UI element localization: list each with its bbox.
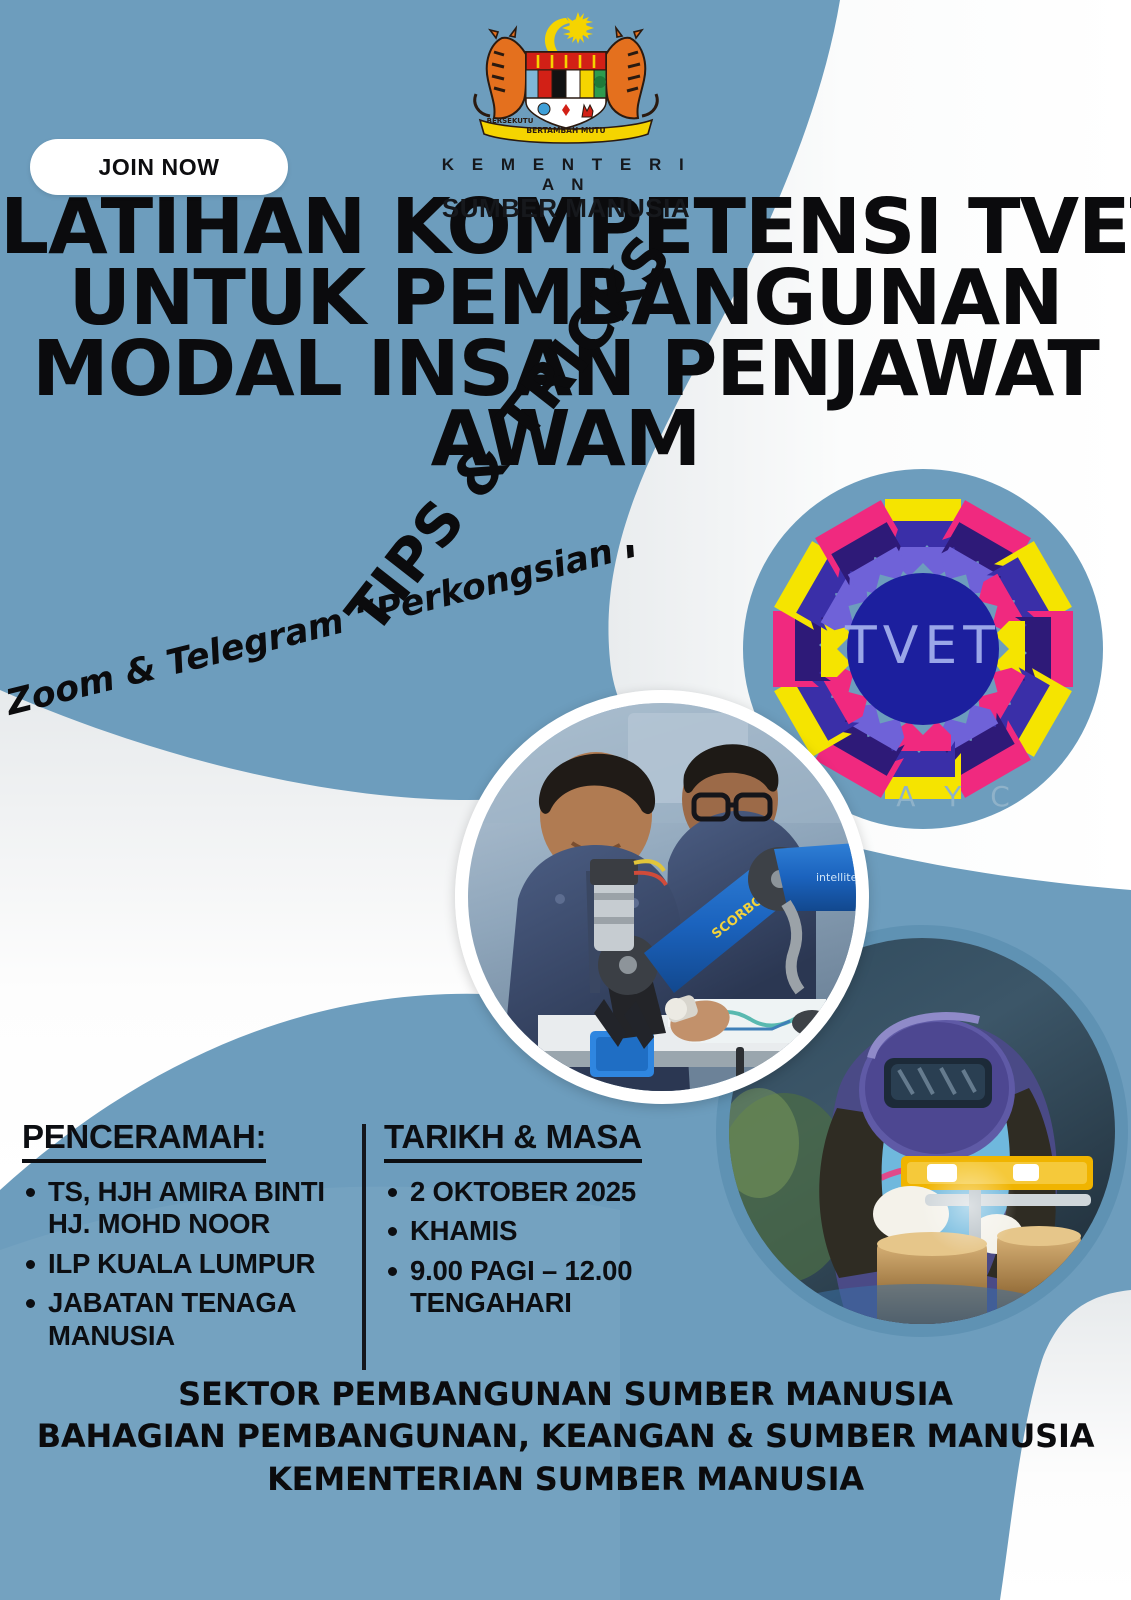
schedule-list: 2 OKTOBER 2025 KHAMIS 9.00 PAGI – 12.00 …	[384, 1176, 714, 1320]
svg-text:BERTAMBAH MUTU: BERTAMBAH MUTU	[526, 126, 605, 135]
join-now-label: JOIN NOW	[98, 154, 219, 181]
list-item: TS, HJH AMIRA BINTI HJ. MOHD NOOR	[22, 1176, 346, 1241]
join-now-badge[interactable]: JOIN NOW	[30, 139, 288, 195]
svg-text:intellitek: intellitek	[816, 871, 856, 884]
footer-line-3: KEMENTERIAN SUMBER MANUSIA	[0, 1459, 1131, 1501]
robotics-training-photo: SCORBOT-ER 4u intellitek	[455, 690, 869, 1104]
list-item: ILP KUALA LUMPUR	[22, 1248, 346, 1280]
curved-subtitle-path-text: Zoom & Telegram “Perkongsian Ilmu 2025”	[0, 545, 642, 724]
column-divider	[362, 1124, 366, 1370]
tiger-left-icon	[475, 28, 528, 118]
malaysia-coat-of-arms-icon: BERTAMBAH MUTU BERSEKUTU	[432, 8, 700, 148]
list-item: 2 OKTOBER 2025	[384, 1176, 714, 1208]
ministry-logo-block: BERTAMBAH MUTU BERSEKUTU K E M E N T E R…	[432, 8, 700, 224]
svg-text:BERSEKUTU: BERSEKUTU	[487, 117, 534, 125]
footer-line-1: SEKTOR PEMBANGUNAN SUMBER MANUSIA	[0, 1374, 1131, 1416]
robotics-photo-art: SCORBOT-ER 4u intellitek	[468, 703, 856, 1091]
footer-line-2: BAHAGIAN PEMBANGUNAN, KEANGAN & SUMBER M…	[0, 1416, 1131, 1458]
schedule-column: TARIKH & MASA 2 OKTOBER 2025 KHAMIS 9.00…	[384, 1118, 714, 1370]
event-details: PENCERAMAH: TS, HJH AMIRA BINTI HJ. MOHD…	[22, 1118, 722, 1370]
ministry-line-1: K E M E N T E R I A N	[432, 155, 700, 195]
ministry-line-2: SUMBER MANUSIA	[432, 193, 700, 224]
list-item: KHAMIS	[384, 1215, 714, 1247]
curved-subtitle-text: Zoom & Telegram “Perkongsian Ilmu 2025”	[0, 545, 642, 724]
speaker-heading: PENCERAMAH:	[22, 1118, 266, 1163]
poster-canvas: JOIN NOW	[0, 0, 1131, 1600]
list-item: 9.00 PAGI – 12.00 TENGAHARI	[384, 1255, 714, 1320]
tvet-sub-label: A Y C	[896, 780, 1020, 813]
speaker-list: TS, HJH AMIRA BINTI HJ. MOHD NOOR ILP KU…	[22, 1176, 346, 1352]
poster-footer: SEKTOR PEMBANGUNAN SUMBER MANUSIA BAHAGI…	[0, 1374, 1131, 1501]
tvet-center-label: TVET	[844, 616, 1001, 676]
tiger-right-icon	[604, 28, 657, 118]
schedule-heading: TARIKH & MASA	[384, 1118, 642, 1163]
list-item: JABATAN TENAGA MANUSIA	[22, 1287, 346, 1352]
speaker-column: PENCERAMAH: TS, HJH AMIRA BINTI HJ. MOHD…	[22, 1118, 362, 1370]
